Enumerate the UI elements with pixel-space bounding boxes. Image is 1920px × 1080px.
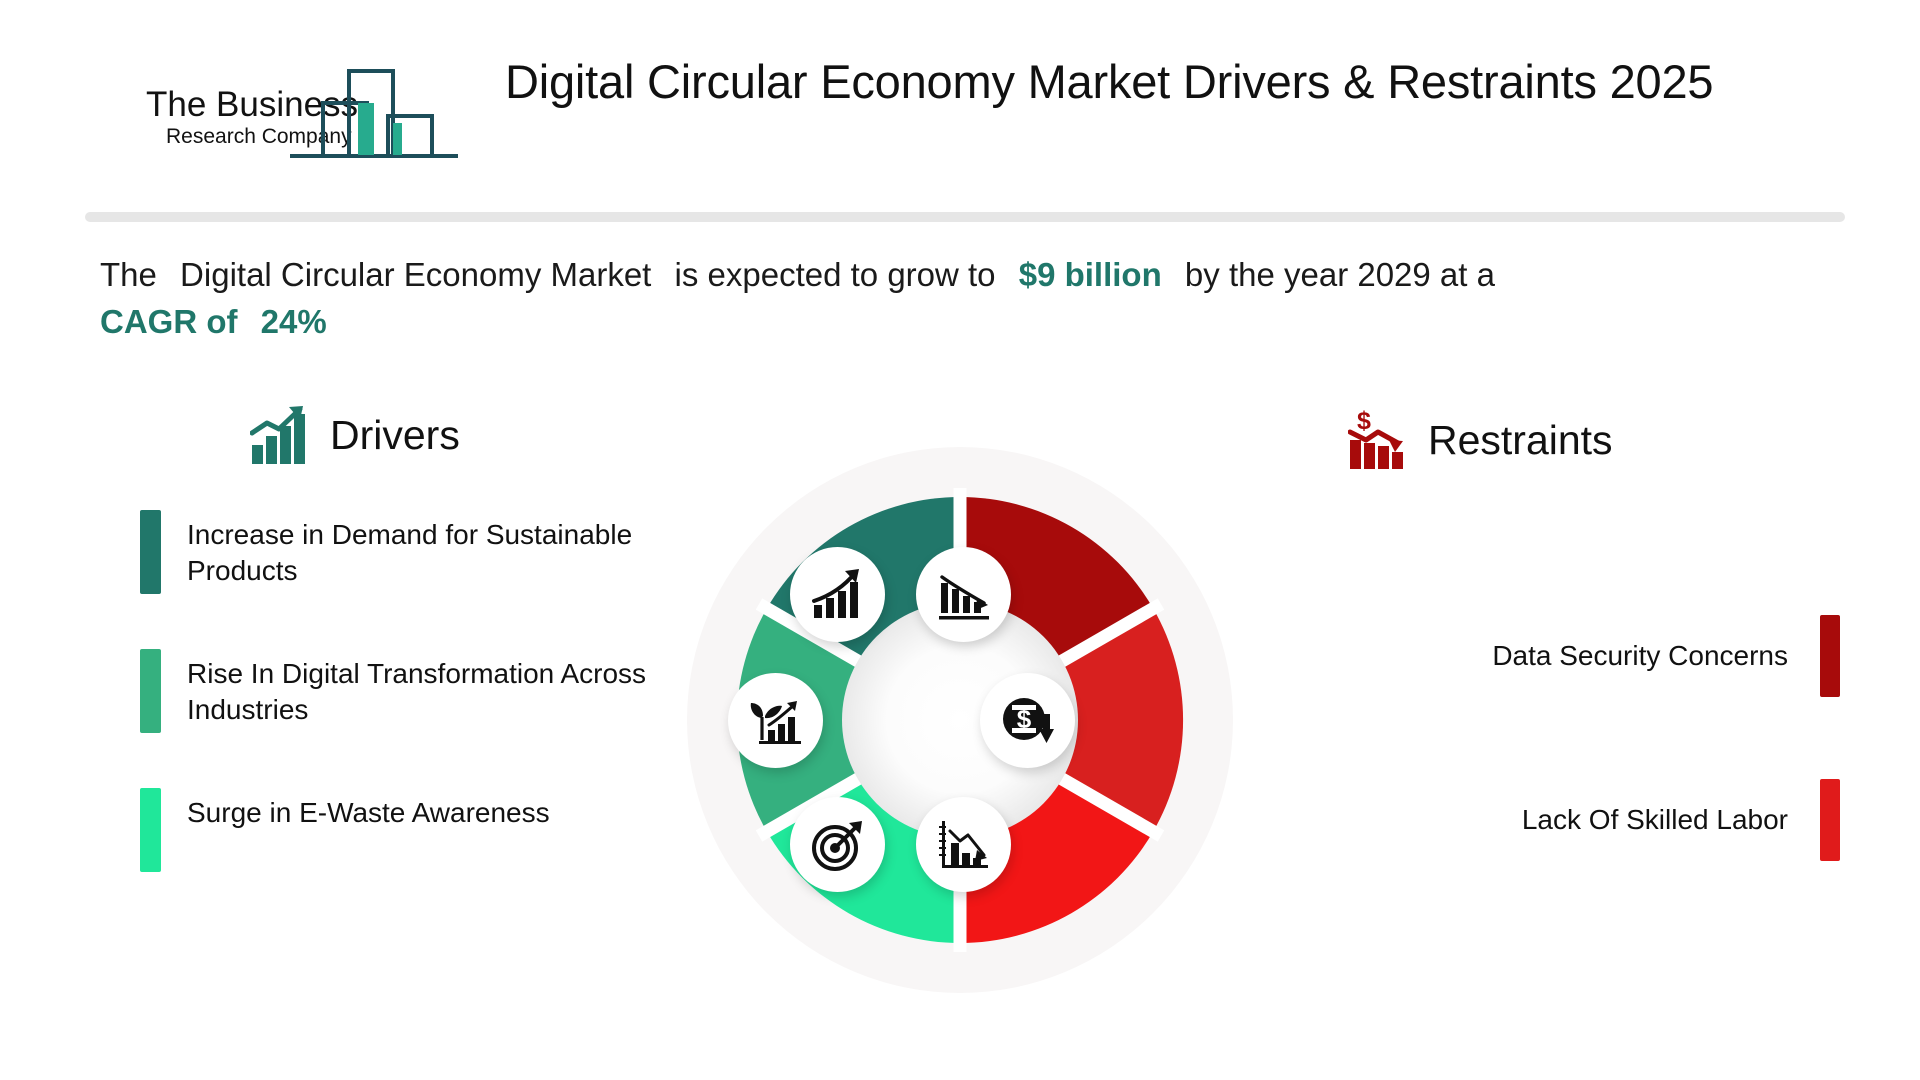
svg-text:$: $ bbox=[1357, 410, 1371, 435]
target-bullseye-icon bbox=[810, 817, 866, 873]
declining-line-chart-icon bbox=[936, 817, 992, 873]
market-summary: The Digital Circular Economy Market is e… bbox=[100, 252, 1820, 346]
wheel-icon-badge-restraint-3 bbox=[916, 797, 1011, 892]
company-logo: The Business Research Company bbox=[140, 58, 470, 168]
driver-color-bar bbox=[140, 649, 161, 733]
plant-growth-chart-icon bbox=[747, 692, 805, 750]
rising-bar-chart-icon bbox=[250, 405, 312, 465]
driver-label: Rise In Digital Transformation Across In… bbox=[161, 649, 700, 728]
market-value: $9 billion bbox=[1019, 256, 1162, 293]
summary-part3: by the year 2029 at a bbox=[1185, 256, 1495, 293]
restraints-heading-label: Restraints bbox=[1428, 417, 1613, 464]
cagr-label: CAGR of bbox=[100, 303, 237, 340]
restraints-heading: $ Restraints bbox=[1348, 410, 1613, 470]
restraint-item: Data Security Concerns bbox=[1380, 615, 1840, 697]
restraint-label: Lack Of Skilled Labor bbox=[1522, 804, 1820, 836]
restraint-color-bar bbox=[1820, 779, 1840, 861]
drivers-list: Increase in Demand for Sustainable Produ… bbox=[140, 510, 700, 927]
header-divider bbox=[85, 212, 1845, 222]
falling-bar-chart-dollar-icon: $ bbox=[1348, 410, 1410, 470]
logo-mark: The Business Research Company bbox=[140, 58, 470, 168]
driver-item: Surge in E-Waste Awareness bbox=[140, 788, 700, 872]
drivers-heading: Drivers bbox=[250, 405, 460, 465]
drivers-heading-label: Drivers bbox=[330, 412, 460, 459]
declining-bar-chart-arrow-icon bbox=[936, 567, 992, 623]
svg-text:$: $ bbox=[1016, 704, 1031, 734]
wheel-icon-badge-restraint-1 bbox=[916, 547, 1011, 642]
logo-bar-accent-1 bbox=[358, 103, 374, 155]
driver-item: Rise In Digital Transformation Across In… bbox=[140, 649, 700, 733]
logo-bar-accent-2 bbox=[393, 123, 402, 155]
page-title: Digital Circular Economy Market Drivers … bbox=[505, 55, 1835, 110]
wheel-icon-badge-driver-2 bbox=[728, 673, 823, 768]
driver-label: Increase in Demand for Sustainable Produ… bbox=[161, 510, 700, 589]
driver-item: Increase in Demand for Sustainable Produ… bbox=[140, 510, 700, 594]
restraint-label: Data Security Concerns bbox=[1492, 640, 1820, 672]
header: The Business Research Company Digital Ci… bbox=[0, 0, 1920, 205]
restraint-color-bar bbox=[1820, 615, 1840, 697]
dollar-down-arrow-icon: $ bbox=[999, 692, 1057, 750]
restraints-list: Data Security Concerns Lack Of Skilled L… bbox=[1380, 615, 1840, 943]
summary-part1: The bbox=[100, 256, 157, 293]
driver-color-bar bbox=[140, 510, 161, 594]
wheel-icon-badge-restraint-2: $ bbox=[980, 673, 1075, 768]
market-name: Digital Circular Economy Market bbox=[180, 256, 651, 293]
summary-part2: is expected to grow to bbox=[675, 256, 996, 293]
restraint-item: Lack Of Skilled Labor bbox=[1380, 779, 1840, 861]
cagr-value: 24% bbox=[261, 303, 327, 340]
driver-color-bar bbox=[140, 788, 161, 872]
drivers-restraints-wheel: $ bbox=[680, 440, 1240, 1000]
wheel-icon-badge-driver-1 bbox=[790, 547, 885, 642]
driver-label: Surge in E-Waste Awareness bbox=[161, 788, 550, 831]
growth-bar-chart-arrow-icon bbox=[810, 567, 866, 623]
wheel-icon-badge-driver-3 bbox=[790, 797, 885, 892]
